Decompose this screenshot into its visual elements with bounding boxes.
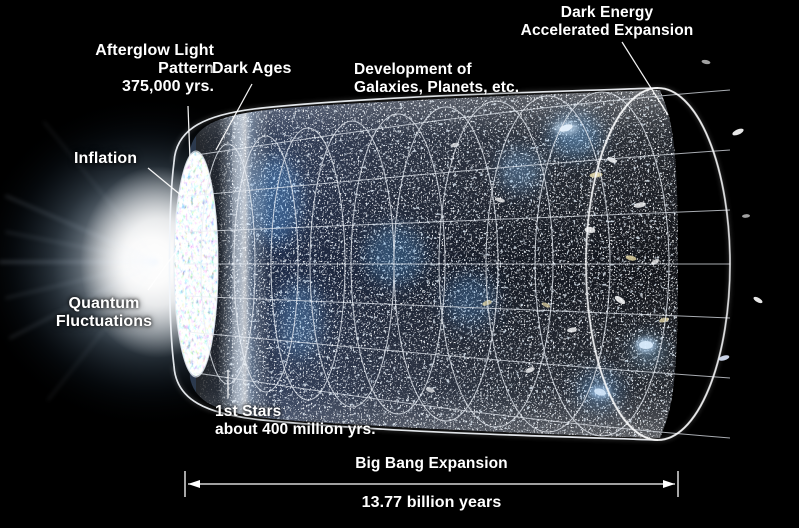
universe-timeline-figure: Afterglow Light Pattern 375,000 yrs. Dar…: [0, 0, 799, 528]
universe-expansion-illustration: [0, 0, 799, 528]
universe-cone-body: [180, 80, 690, 450]
